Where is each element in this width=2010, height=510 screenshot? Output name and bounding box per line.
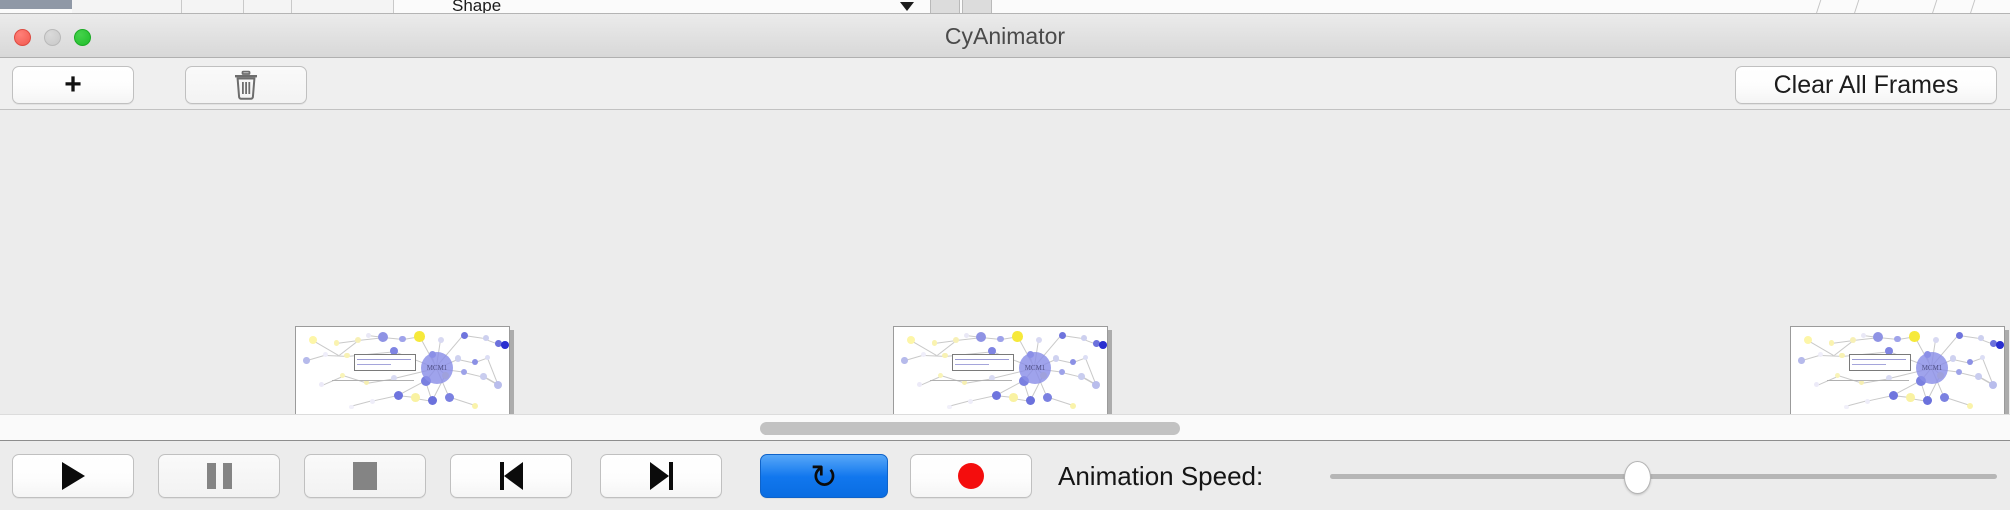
network-node bbox=[1036, 337, 1042, 343]
network-node bbox=[494, 381, 502, 389]
record-button[interactable] bbox=[910, 454, 1032, 498]
network-node bbox=[1956, 332, 1963, 339]
clear-all-frames-button[interactable]: Clear All Frames bbox=[1735, 66, 1997, 104]
frame-thumbnail-13s[interactable]: MCM1 bbox=[295, 326, 510, 414]
network-node bbox=[364, 380, 369, 385]
network-node bbox=[1818, 352, 1823, 357]
network-node bbox=[992, 391, 1001, 400]
network-node bbox=[472, 359, 478, 365]
network-node bbox=[1978, 335, 1984, 341]
network-node bbox=[917, 382, 922, 387]
network-node bbox=[1043, 393, 1052, 402]
background-cell bbox=[72, 0, 182, 14]
network-node bbox=[438, 337, 444, 343]
network-node bbox=[1865, 399, 1870, 404]
network-node bbox=[976, 332, 986, 342]
network-node bbox=[1873, 332, 1883, 342]
tooltip-text-line bbox=[357, 364, 391, 365]
network-node bbox=[472, 403, 478, 409]
network-node bbox=[964, 333, 969, 338]
network-caption-line bbox=[930, 380, 1012, 381]
playback-bar: ↻ Animation Speed: bbox=[0, 442, 2010, 510]
pause-button[interactable] bbox=[158, 454, 280, 498]
tooltip-text-line bbox=[955, 359, 1009, 360]
network-node bbox=[1070, 359, 1076, 365]
network-node bbox=[1894, 336, 1901, 343]
network-node bbox=[901, 357, 908, 364]
page-title: CyAnimator bbox=[0, 14, 2010, 58]
loop-button[interactable]: ↻ bbox=[760, 454, 888, 498]
network-node bbox=[1909, 331, 1920, 342]
network-caption-line bbox=[1827, 380, 1909, 381]
network-node bbox=[428, 396, 437, 405]
network-tooltip-box bbox=[1849, 354, 1911, 371]
network-node bbox=[1859, 380, 1864, 385]
network-node bbox=[378, 332, 388, 342]
network-node bbox=[1975, 373, 1982, 380]
tooltip-text-line bbox=[1852, 364, 1886, 365]
network-node bbox=[411, 393, 420, 402]
network-node bbox=[370, 399, 375, 404]
network-node bbox=[1099, 341, 1107, 349]
network-node bbox=[1059, 332, 1066, 339]
network-node bbox=[1967, 359, 1973, 365]
network-tooltip-box bbox=[952, 354, 1014, 371]
tooltip-text-line bbox=[955, 364, 989, 365]
network-node bbox=[1829, 340, 1835, 346]
title-bar[interactable]: CyAnimator bbox=[0, 14, 2010, 58]
slider-thumb[interactable] bbox=[1624, 461, 1651, 494]
network-node bbox=[1070, 403, 1076, 409]
skip-end-button[interactable] bbox=[600, 454, 722, 498]
network-node bbox=[355, 337, 362, 344]
network-node bbox=[1989, 381, 1997, 389]
animation-speed-label: Animation Speed: bbox=[1058, 454, 1263, 498]
frame-thumbnail-15s[interactable]: MCM1 bbox=[893, 326, 1108, 414]
timeline-scrollbar-thumb[interactable] bbox=[760, 422, 1180, 435]
network-node bbox=[1083, 355, 1089, 361]
network-node bbox=[461, 369, 467, 375]
network-node bbox=[938, 373, 943, 378]
background-cell bbox=[182, 0, 244, 14]
pause-icon bbox=[207, 463, 232, 489]
network-preview: MCM1 bbox=[1791, 327, 2004, 414]
network-node bbox=[1889, 391, 1898, 400]
background-tab bbox=[0, 0, 72, 9]
skip-start-button[interactable] bbox=[450, 454, 572, 498]
background-button bbox=[930, 0, 960, 14]
network-preview: MCM1 bbox=[894, 327, 1107, 414]
network-node bbox=[1059, 369, 1065, 375]
frames-layer: MCM1MCM1MCM1 bbox=[0, 110, 2010, 310]
network-node bbox=[1906, 393, 1915, 402]
network-node bbox=[942, 353, 947, 358]
network-node bbox=[947, 405, 952, 410]
background-button bbox=[962, 0, 992, 14]
timeline-scrollbar[interactable] bbox=[0, 414, 2010, 441]
play-icon bbox=[62, 462, 85, 490]
network-node bbox=[1861, 333, 1866, 338]
network-node bbox=[997, 336, 1004, 343]
network-node bbox=[1081, 335, 1087, 341]
network-hub-node: MCM1 bbox=[1916, 352, 1948, 384]
network-node bbox=[461, 332, 468, 339]
stop-button[interactable] bbox=[304, 454, 426, 498]
stop-icon bbox=[353, 462, 377, 490]
trash-icon bbox=[233, 70, 259, 100]
network-node bbox=[394, 391, 403, 400]
network-node bbox=[334, 340, 340, 346]
network-node bbox=[445, 393, 454, 402]
network-node bbox=[366, 333, 371, 338]
network-caption-line bbox=[332, 380, 414, 381]
network-node bbox=[1850, 337, 1857, 344]
network-node bbox=[1053, 355, 1060, 362]
network-node bbox=[319, 382, 324, 387]
slider-rail bbox=[1330, 474, 1997, 479]
network-node bbox=[1996, 341, 2004, 349]
background-column-header: Shape bbox=[452, 0, 501, 14]
delete-frame-button[interactable] bbox=[185, 66, 307, 104]
network-node bbox=[962, 380, 967, 385]
network-node bbox=[1923, 396, 1932, 405]
network-node bbox=[1009, 393, 1018, 402]
background-divider bbox=[1932, 0, 1938, 14]
sort-caret-icon bbox=[900, 2, 914, 11]
network-node bbox=[1026, 396, 1035, 405]
network-node bbox=[323, 352, 328, 357]
network-node bbox=[1078, 373, 1085, 380]
network-hub-node: MCM1 bbox=[421, 352, 453, 384]
network-node bbox=[483, 335, 489, 341]
add-frame-button[interactable]: + bbox=[12, 66, 134, 104]
network-node bbox=[1967, 403, 1973, 409]
timeline-panel[interactable]: MCM1MCM1MCM1 12131415161718 Seconds bbox=[0, 110, 2010, 414]
frame-thumbnail-18s[interactable]: MCM1 bbox=[1790, 326, 2005, 414]
network-node bbox=[344, 353, 349, 358]
network-node bbox=[1012, 331, 1023, 342]
network-node bbox=[1980, 355, 1986, 361]
network-node bbox=[1950, 355, 1957, 362]
clear-all-frames-label: Clear All Frames bbox=[1774, 71, 1959, 100]
background-divider bbox=[1970, 0, 1976, 14]
loop-icon: ↻ bbox=[810, 460, 838, 493]
network-node bbox=[921, 352, 926, 357]
network-hub-node: MCM1 bbox=[1019, 352, 1051, 384]
network-node bbox=[968, 399, 973, 404]
network-node bbox=[1940, 393, 1949, 402]
tooltip-text-line bbox=[357, 359, 411, 360]
network-node bbox=[485, 355, 491, 361]
network-node bbox=[1092, 381, 1100, 389]
network-node bbox=[1933, 337, 1939, 343]
network-node bbox=[1814, 382, 1819, 387]
plus-icon: + bbox=[64, 70, 82, 100]
animation-speed-slider[interactable] bbox=[1330, 454, 1997, 498]
cyanimator-window: Shape CyAnimator + bbox=[0, 0, 2010, 510]
background-divider bbox=[1854, 0, 1860, 14]
network-node bbox=[480, 373, 487, 380]
skip-to-end-icon bbox=[650, 462, 673, 490]
play-button[interactable] bbox=[12, 454, 134, 498]
network-node bbox=[399, 336, 406, 343]
background-divider bbox=[1816, 0, 1822, 14]
network-node bbox=[303, 357, 310, 364]
network-node bbox=[1835, 373, 1840, 378]
network-node bbox=[501, 341, 509, 349]
skip-to-start-icon bbox=[500, 462, 523, 490]
network-node bbox=[1798, 357, 1805, 364]
network-preview: MCM1 bbox=[296, 327, 509, 414]
network-node bbox=[455, 355, 462, 362]
network-node bbox=[1956, 369, 1962, 375]
network-node bbox=[340, 373, 345, 378]
network-node bbox=[1844, 405, 1849, 410]
toolbar: + Clear All Frames bbox=[0, 58, 2010, 110]
network-node bbox=[349, 405, 354, 410]
network-node bbox=[932, 340, 938, 346]
tooltip-text-line bbox=[1852, 359, 1906, 360]
network-tooltip-box bbox=[354, 354, 416, 371]
record-icon bbox=[958, 463, 984, 489]
background-window-strip: Shape bbox=[0, 0, 2010, 14]
network-node bbox=[953, 337, 960, 344]
network-node bbox=[1839, 353, 1844, 358]
network-node bbox=[414, 331, 425, 342]
background-cell bbox=[292, 0, 394, 14]
background-cell bbox=[244, 0, 292, 14]
